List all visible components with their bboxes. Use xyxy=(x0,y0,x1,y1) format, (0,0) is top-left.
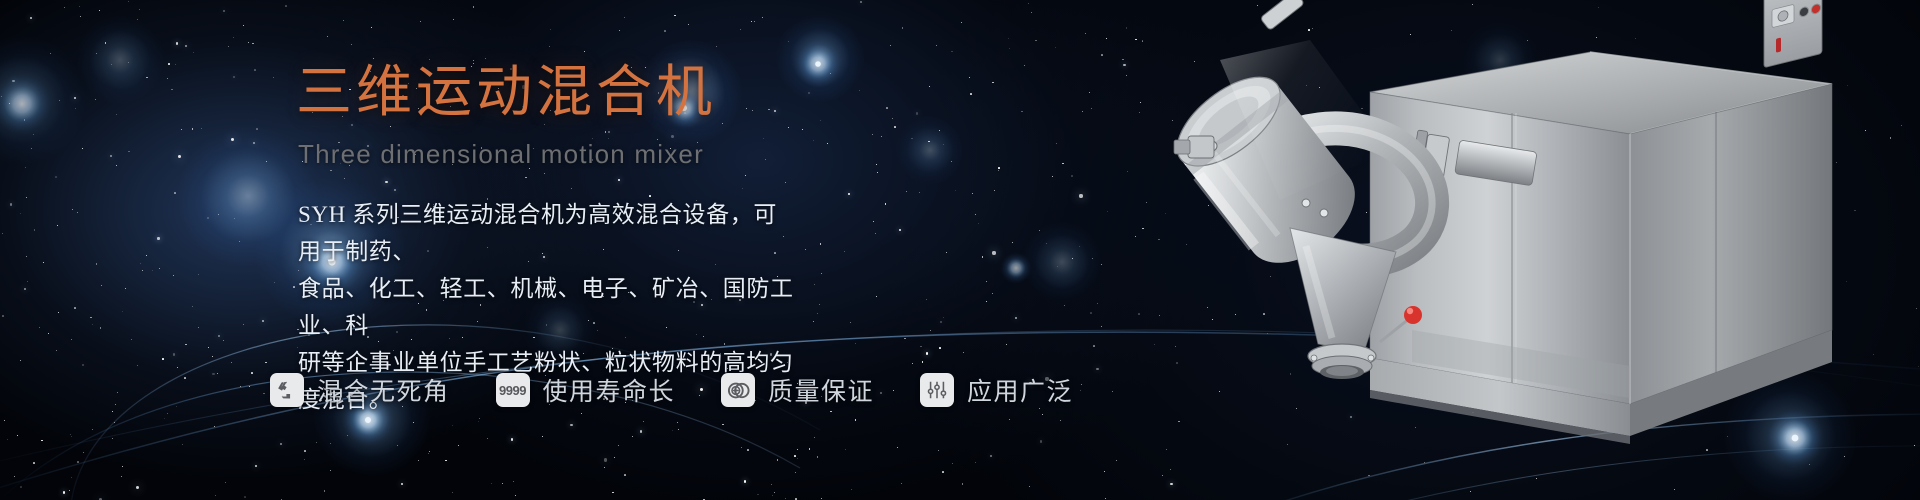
description-line-2: 食品、化工、轻工、机械、电子、矿冶、国防工业、科 xyxy=(298,270,798,344)
feature-highlight-list: 混合无死角 9999 使用寿命长 质量保证 xyxy=(270,372,1073,408)
lifetime-icon-text: 9999 xyxy=(499,383,526,398)
description-line-1: SYH 系列三维运动混合机为高效混合设备，可用于制药、 xyxy=(298,196,798,270)
orbital-arc-decoration xyxy=(0,0,1920,500)
banner-copy-block: 三维运动混合机 Three dimensional motion mixer S… xyxy=(296,62,936,418)
sliders-icon xyxy=(920,373,954,407)
feature-label: 使用寿命长 xyxy=(543,372,676,408)
page-subtitle: Three dimensional motion mixer xyxy=(298,139,936,170)
feature-label: 质量保证 xyxy=(768,372,874,408)
star-glow xyxy=(76,16,164,104)
feature-item-long-life[interactable]: 9999 使用寿命长 xyxy=(496,372,676,408)
feature-item-wide-application[interactable]: 应用广泛 xyxy=(920,372,1073,408)
three-dimensional-motion-mixer-photo xyxy=(1160,0,1920,500)
feature-label: 混合无死角 xyxy=(317,372,450,408)
feature-item-no-dead-angle[interactable]: 混合无死角 xyxy=(270,372,450,408)
star-glow xyxy=(1724,370,1856,500)
star-glow xyxy=(1022,222,1102,302)
product-hero-banner: 三维运动混合机 Three dimensional motion mixer S… xyxy=(0,0,1920,500)
star-glow xyxy=(1462,22,1538,98)
quality-target-icon xyxy=(721,373,755,407)
lifetime-9999-icon: 9999 xyxy=(496,373,530,407)
page-title: 三维运动混合机 xyxy=(296,62,936,125)
recycle-icon xyxy=(270,373,304,407)
star-glow xyxy=(0,36,86,164)
feature-label: 应用广泛 xyxy=(967,372,1073,408)
feature-item-quality-assurance[interactable]: 质量保证 xyxy=(721,372,874,408)
starfield-background xyxy=(0,0,1920,500)
